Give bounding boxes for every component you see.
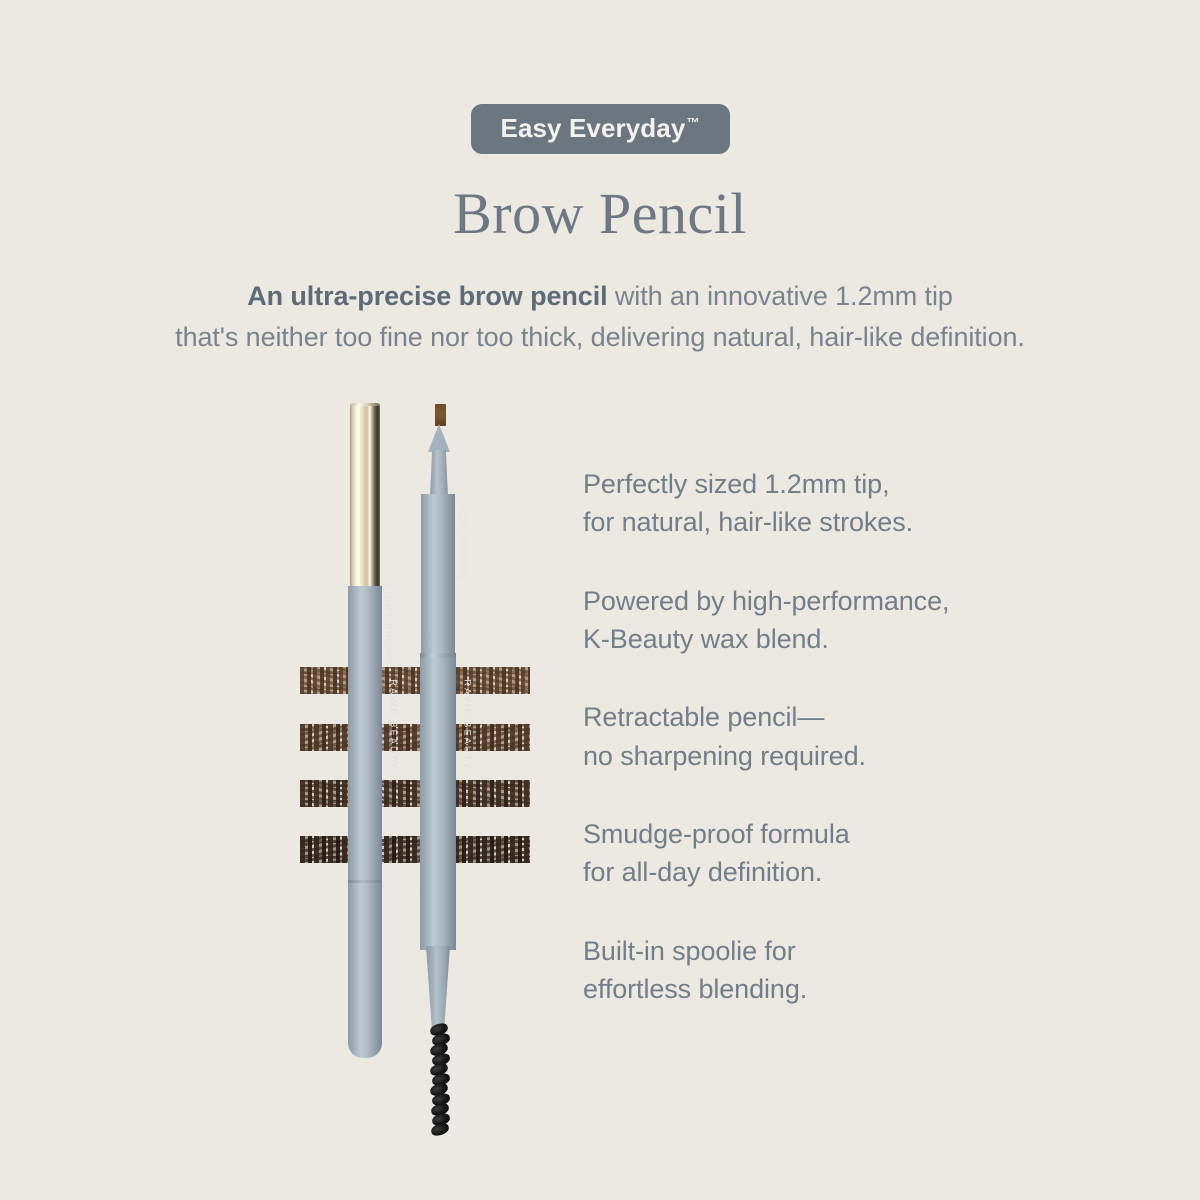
subtitle-rest: with an innovative 1.2mm tip xyxy=(608,281,953,311)
easy-everyday-badge: Easy Everyday™ xyxy=(471,104,730,154)
feature-line-1: Powered by high-performance, xyxy=(583,582,1103,620)
brand-label: RAVIE BEAUTY xyxy=(348,720,382,730)
pencil-barrel-lower xyxy=(420,658,456,950)
gold-cap xyxy=(350,406,380,591)
product-subtitle: An ultra-precise brow pencil with an inn… xyxy=(0,276,1200,358)
spoolie-brush xyxy=(431,1024,449,1144)
swatch-stroke xyxy=(300,784,530,803)
feature-line-2: for all-day definition. xyxy=(583,853,1103,891)
swatch-stroke xyxy=(300,671,530,690)
feature-line-1: Smudge-proof formula xyxy=(583,815,1103,853)
feature-item: Smudge-proof formula for all-day definit… xyxy=(583,815,1103,892)
feature-list: Perfectly sized 1.2mm tip, for natural, … xyxy=(583,465,1103,1008)
product-marketing-page: Easy Everyday™ Brow Pencil An ultra-prec… xyxy=(0,0,1200,1200)
product-image: LIGHT BROWN RAVIE BEAUTY LIGHT BROWN RAV… xyxy=(270,390,570,1090)
badge-row: Easy Everyday™ xyxy=(0,104,1200,154)
feature-item: Powered by high-performance, K-Beauty wa… xyxy=(583,582,1103,659)
badge-label: Easy Everyday xyxy=(501,115,686,141)
trademark-icon: ™ xyxy=(686,116,699,129)
pencil-tip-lead xyxy=(435,404,446,426)
feature-line-2: effortless blending. xyxy=(583,970,1103,1008)
page-title: Brow Pencil xyxy=(0,181,1200,248)
feature-line-1: Perfectly sized 1.2mm tip, xyxy=(583,465,1103,503)
subtitle-lead: An ultra-precise brow pencil xyxy=(247,281,607,311)
shade-label: LIGHT BROWN xyxy=(348,620,382,630)
swatch-stroke xyxy=(300,840,530,859)
feature-line-1: Built-in spoolie for xyxy=(583,932,1103,970)
pencil-barrel-upper xyxy=(421,494,455,660)
shade-label: LIGHT BROWN xyxy=(422,535,456,545)
feature-item: Retractable pencil— no sharpening requir… xyxy=(583,698,1103,775)
brand-label: RAVIE BEAUTY xyxy=(422,720,456,730)
feature-item: Perfectly sized 1.2mm tip, for natural, … xyxy=(583,465,1103,542)
pencil-seam xyxy=(348,880,382,883)
feature-line-1: Retractable pencil— xyxy=(583,698,1103,736)
feature-line-2: K-Beauty wax blend. xyxy=(583,620,1103,658)
pencil-tip-taper xyxy=(430,450,448,496)
feature-line-2: for natural, hair-like strokes. xyxy=(583,503,1103,541)
swatch-stroke xyxy=(300,728,530,747)
subtitle-line-2: that's neither too fine nor too thick, d… xyxy=(175,322,1025,352)
pencil-tip-cone xyxy=(428,424,450,452)
pencil-barrel xyxy=(348,586,382,1058)
feature-line-2: no sharpening required. xyxy=(583,737,1103,775)
feature-item: Built-in spoolie for effortless blending… xyxy=(583,932,1103,1009)
